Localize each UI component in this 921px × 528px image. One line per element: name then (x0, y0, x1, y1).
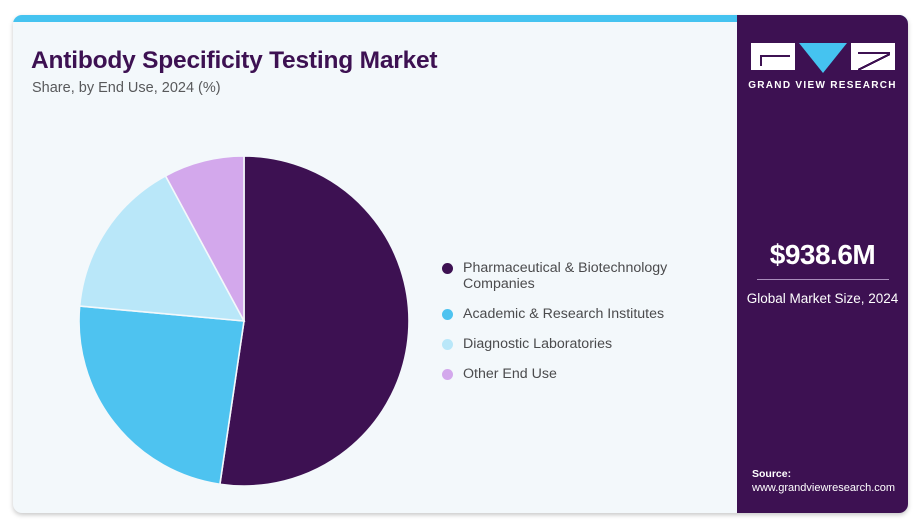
legend-item-academic-research-institutes[interactable]: Academic & Research Institutes (442, 306, 722, 322)
source-block: Source: www.grandviewresearch.com (752, 467, 908, 496)
legend-item-label: Pharmaceutical & Biotechnology Companies (463, 260, 699, 292)
chart-legend: Pharmaceutical & Biotechnology Companies… (442, 260, 722, 382)
logo-wordmark: GRAND VIEW RESEARCH (737, 80, 908, 91)
legend-item-label: Diagnostic Laboratories (463, 336, 612, 352)
pie-slices (79, 156, 409, 486)
legend-item-diagnostic-laboratories[interactable]: Diagnostic Laboratories (442, 336, 722, 352)
legend-swatch-icon (442, 263, 453, 274)
pie-slice[interactable] (220, 156, 409, 486)
legend-item-pharmaceutical-biotechnology-companies[interactable]: Pharmaceutical & Biotechnology Companies (442, 260, 722, 292)
logo-v-triangle-icon (799, 43, 847, 73)
pie-slice[interactable] (79, 306, 244, 484)
pie-chart-svg (79, 156, 409, 486)
logo-g-icon (751, 43, 795, 70)
page-subtitle: Share, by End Use, 2024 (%) (32, 80, 221, 96)
brand-logo: GRAND VIEW RESEARCH (737, 43, 908, 91)
stat-value: $938.6M (737, 239, 908, 271)
source-label: Source: (752, 467, 908, 481)
side-panel: GRAND VIEW RESEARCH $938.6M Global Marke… (737, 15, 908, 513)
chart-area: Antibody Specificity Testing Market Shar… (13, 22, 737, 513)
pie-chart (79, 156, 409, 486)
market-size-stat: $938.6M Global Market Size, 2024 (737, 239, 908, 308)
logo-r-icon (851, 43, 895, 70)
logo-marks (737, 43, 908, 72)
stat-divider (757, 279, 889, 280)
legend-swatch-icon (442, 339, 453, 350)
legend-item-label: Other End Use (463, 366, 557, 382)
legend-swatch-icon (442, 369, 453, 380)
legend-item-other-end-use[interactable]: Other End Use (442, 366, 722, 382)
infographic-card: Antibody Specificity Testing Market Shar… (13, 15, 908, 513)
page-title: Antibody Specificity Testing Market (31, 47, 437, 75)
stat-caption: Global Market Size, 2024 (737, 289, 908, 308)
legend-item-label: Academic & Research Institutes (463, 306, 664, 322)
legend-swatch-icon (442, 309, 453, 320)
source-url[interactable]: www.grandviewresearch.com (752, 481, 908, 496)
